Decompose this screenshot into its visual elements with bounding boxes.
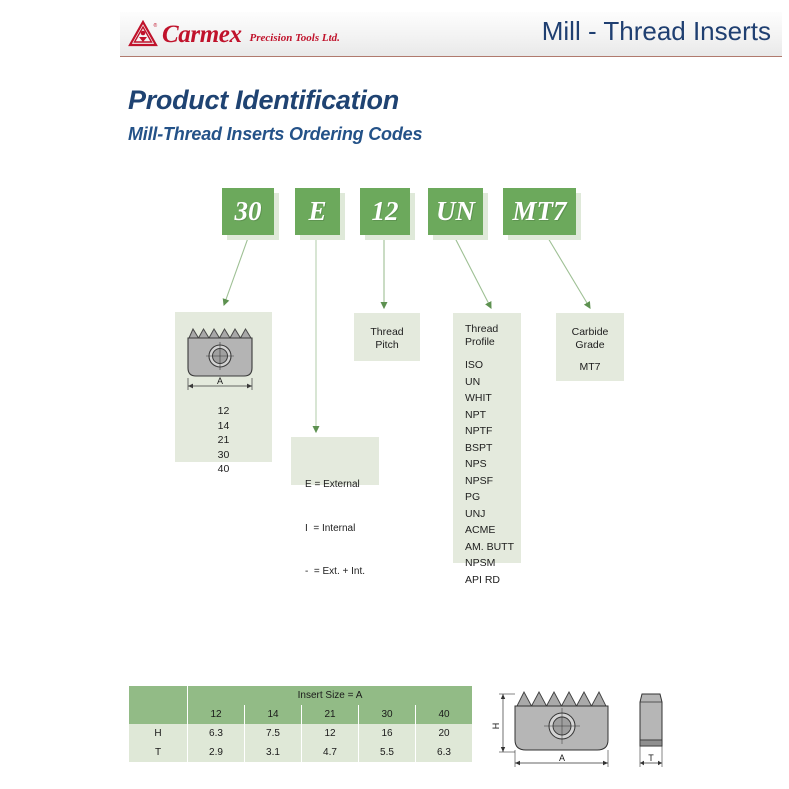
size-item: 21: [175, 433, 272, 448]
thread-profile-item: ISO: [465, 357, 514, 374]
thread-pitch-title: Thread Pitch: [354, 326, 420, 352]
table-cell: 20: [416, 724, 473, 743]
thread-profile-item: ACME: [465, 522, 514, 539]
code-box-insert-size[interactable]: 30: [222, 188, 274, 235]
carbide-grade-title: Carbide Grade: [556, 326, 624, 352]
carmex-logo: ® Carmex Precision Tools Ltd.: [128, 18, 340, 50]
table-cell: 6.3: [416, 743, 473, 762]
table-cell: 16: [359, 724, 416, 743]
dimension-label-h: H: [491, 723, 501, 730]
thread-profile-item: UN: [465, 374, 514, 391]
code-box-ext-int[interactable]: E: [295, 188, 340, 235]
carbide-grade-title-line1: Carbide: [556, 326, 624, 339]
size-item: 30: [175, 448, 272, 463]
table-row-label: T: [129, 743, 188, 762]
page-canvas: ® Carmex Precision Tools Ltd. Mill - Thr…: [0, 0, 789, 789]
carmex-wordmark: Carmex: [162, 22, 242, 47]
thread-profile-title-line1: Thread: [465, 323, 498, 336]
insert-size-list: 12 14 21 30 40: [175, 404, 272, 477]
code-box-carbide-grade[interactable]: MT7: [503, 188, 576, 235]
thread-profile-item: NPSM: [465, 555, 514, 572]
table-cell: 6.3: [188, 724, 245, 743]
thread-profile-item: PG: [465, 489, 514, 506]
carmex-tagline: Precision Tools Ltd.: [250, 32, 340, 44]
thread-pitch-panel[interactable]: Thread Pitch: [354, 313, 420, 361]
thread-profile-item: NPT: [465, 407, 514, 424]
svg-text:®: ®: [154, 22, 158, 29]
side-view-drawing: T: [640, 694, 662, 767]
table-cell: 5.5: [359, 743, 416, 762]
table-cell: 3.1: [245, 743, 302, 762]
thread-pitch-title-line1: Thread: [354, 326, 420, 339]
header-divider: [120, 56, 782, 57]
table-column-header: 40: [416, 705, 473, 724]
dimension-label-t: T: [648, 753, 654, 763]
size-item: 12: [175, 404, 272, 419]
code-box-thread-profile[interactable]: UN: [428, 188, 483, 235]
thread-profile-item: BSPT: [465, 440, 514, 457]
insert-size-drawing: A: [175, 316, 272, 404]
thread-profile-item: NPTF: [465, 423, 514, 440]
ext-int-legend: E = External I = Internal - = Ext. + Int…: [305, 449, 365, 609]
ext-int-line: I = Internal: [305, 522, 365, 537]
ext-int-panel[interactable]: E = External I = Internal - = Ext. + Int…: [291, 437, 379, 485]
table-cell: 4.7: [302, 743, 359, 762]
table-corner-cell: [129, 686, 188, 705]
size-item: 40: [175, 462, 272, 477]
ext-int-line: - = Ext. + Int.: [305, 565, 365, 580]
page-title: Mill - Thread Inserts: [542, 16, 771, 47]
thread-profile-item: UNJ: [465, 506, 514, 523]
table-row-label: H: [129, 724, 188, 743]
thread-profile-title-line2: Profile: [465, 336, 498, 349]
thread-profile-list: ISO UN WHIT NPT NPTF BSPT NPS NPSF PG UN…: [465, 357, 514, 588]
table-header-row: Insert Size = A: [129, 686, 473, 705]
document-title: Product Identification: [128, 85, 399, 116]
thread-profile-item: WHIT: [465, 390, 514, 407]
table-row: T 2.9 3.1 4.7 5.5 6.3: [129, 743, 473, 762]
table-column-header: 14: [245, 705, 302, 724]
table-column-header: 30: [359, 705, 416, 724]
carbide-grade-value: MT7: [556, 361, 624, 373]
table-cell: 12: [302, 724, 359, 743]
table-row: H 6.3 7.5 12 16 20: [129, 724, 473, 743]
thread-profile-item: NPS: [465, 456, 514, 473]
spec-table: Insert Size = A 12 14 21 30 40 H 6.3 7.5…: [128, 686, 473, 762]
table-column-row: 12 14 21 30 40: [129, 705, 473, 724]
table-cell: 2.9: [188, 743, 245, 762]
connector-arrows: [0, 0, 789, 789]
thread-profile-title: Thread Profile: [465, 323, 498, 349]
document-subtitle: Mill-Thread Inserts Ordering Codes: [128, 124, 422, 145]
carbide-grade-panel[interactable]: Carbide Grade MT7: [556, 313, 624, 381]
code-box-thread-pitch[interactable]: 12: [360, 188, 410, 235]
dimension-label-a-front: A: [559, 753, 565, 763]
carmex-triangle-icon: ®: [128, 20, 158, 48]
insert-size-panel[interactable]: A 12 14 21 30 40: [175, 312, 272, 462]
thread-profile-item: API RD: [465, 572, 514, 589]
dimension-label-a: A: [217, 376, 223, 386]
technical-drawings: H A T: [482, 680, 682, 780]
carbide-grade-title-line2: Grade: [556, 339, 624, 352]
table-cell: 7.5: [245, 724, 302, 743]
table-span-header: Insert Size = A: [188, 686, 473, 705]
thread-profile-item: AM. BUTT: [465, 539, 514, 556]
table-corner-cell-2: [129, 705, 188, 724]
thread-profile-panel[interactable]: Thread Profile ISO UN WHIT NPT NPTF BSPT…: [453, 313, 521, 563]
table-column-header: 21: [302, 705, 359, 724]
thread-pitch-title-line2: Pitch: [354, 339, 420, 352]
front-view-drawing: H A: [491, 692, 608, 767]
thread-profile-item: NPSF: [465, 473, 514, 490]
table-column-header: 12: [188, 705, 245, 724]
ext-int-line: E = External: [305, 478, 365, 493]
size-item: 14: [175, 419, 272, 434]
